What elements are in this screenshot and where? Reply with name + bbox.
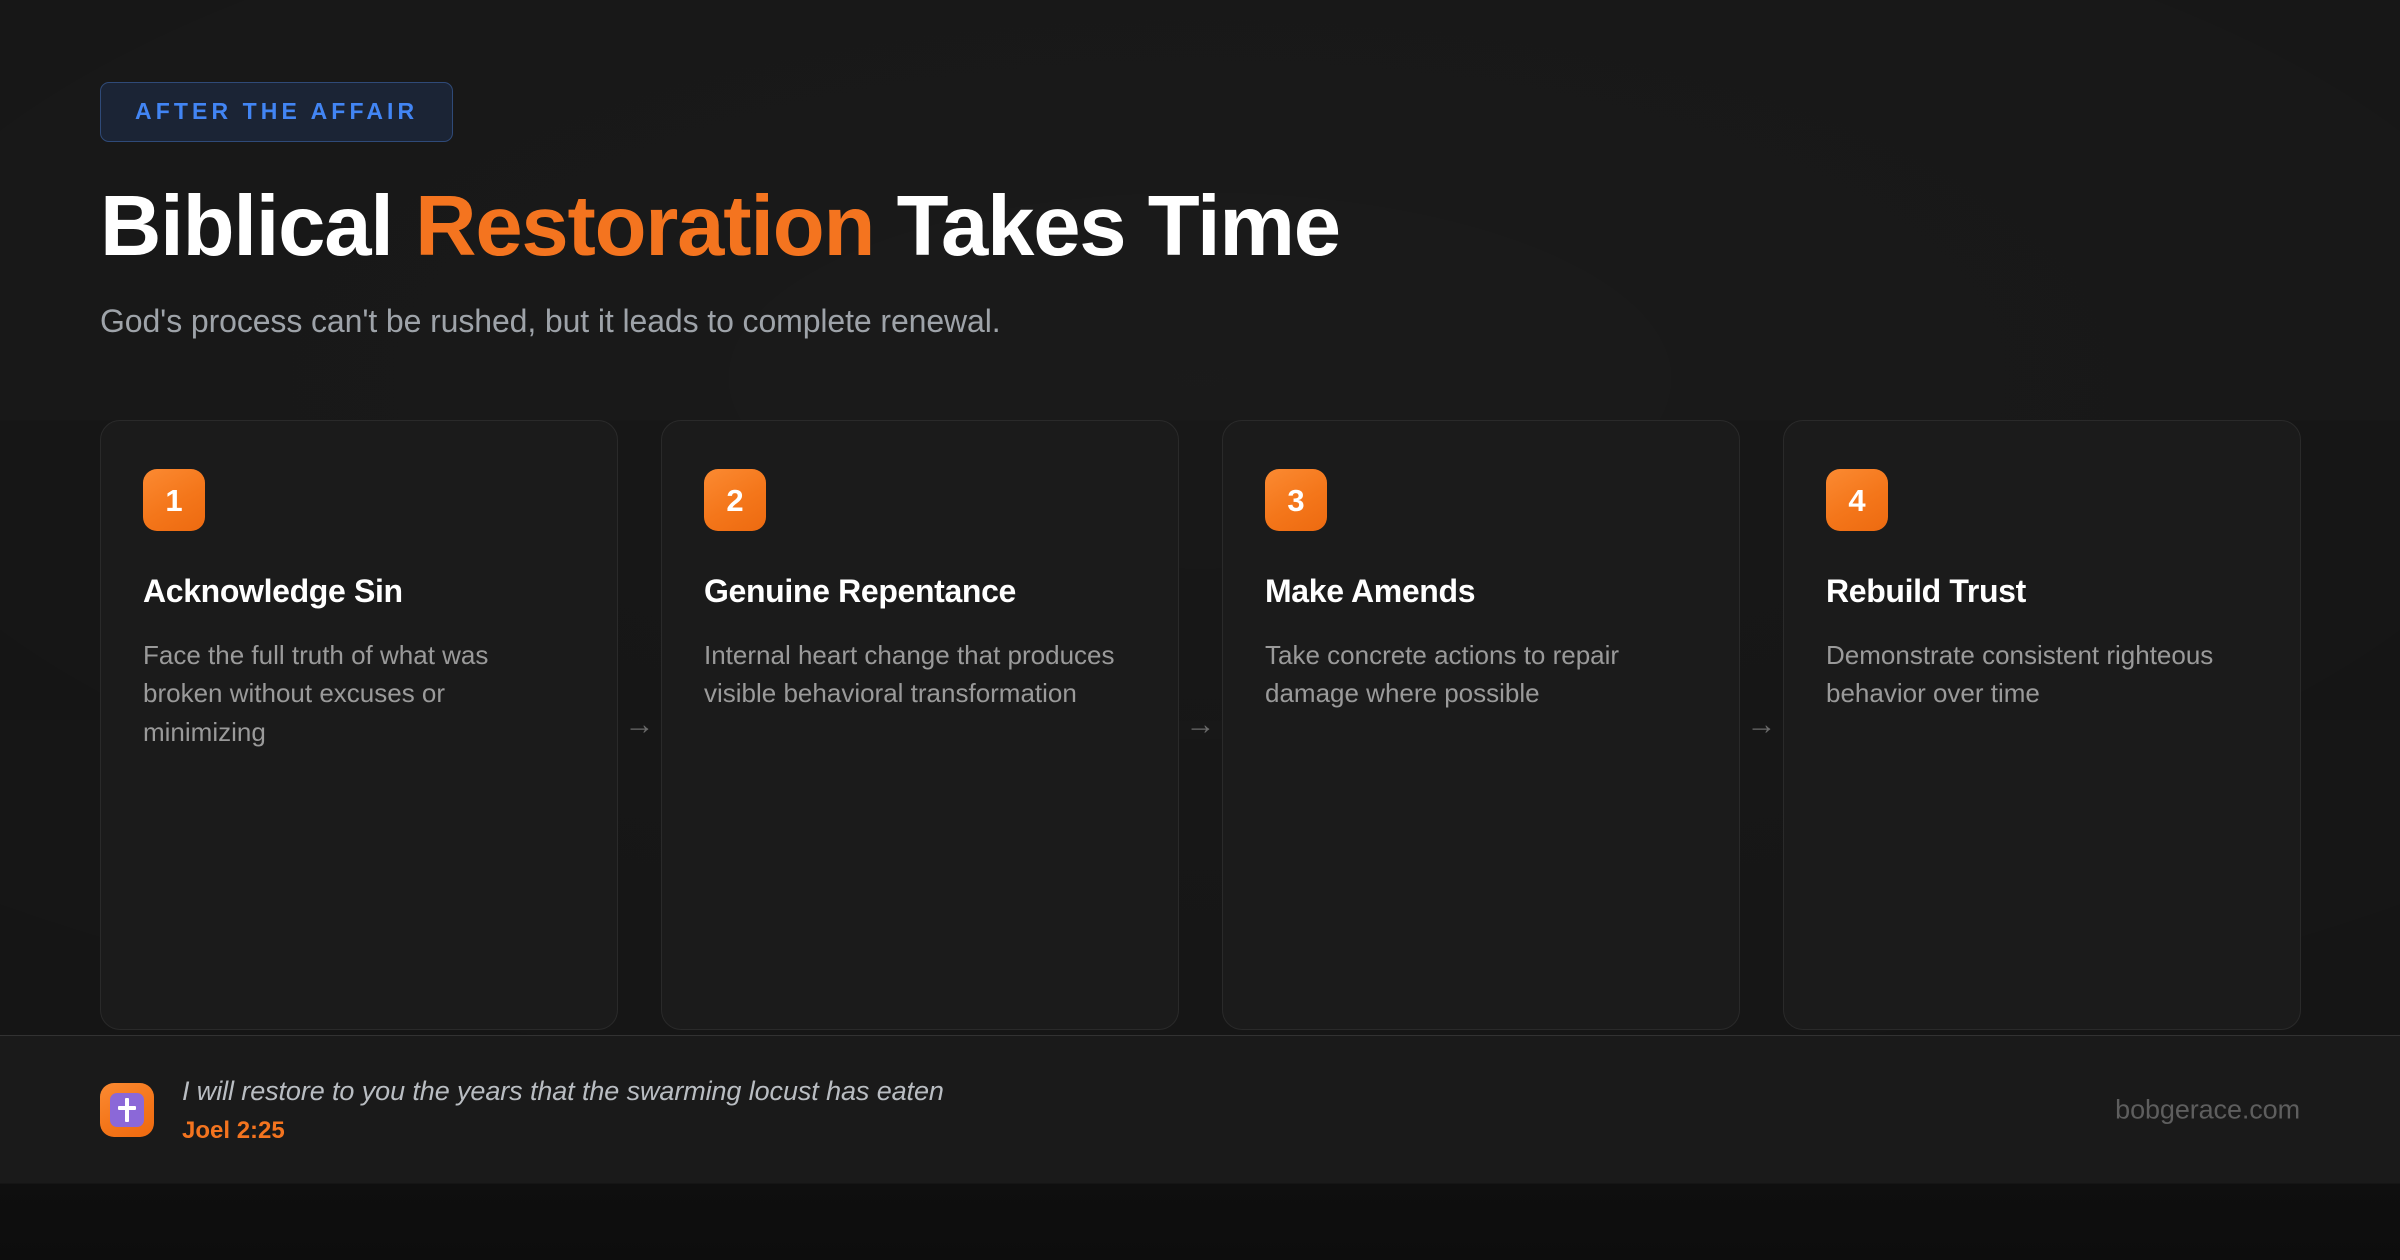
scripture-quote: I will restore to you the years that the… [182,1075,944,1107]
cross-icon [100,1083,154,1137]
step-card[interactable]: 4 Rebuild Trust Demonstrate consistent r… [1783,420,2301,1030]
step-description: Demonstrate consistent righteous behavio… [1826,636,2258,713]
scripture-reference: Joel 2:25 [182,1118,944,1144]
title-accent: Restoration [415,179,874,274]
footer: I will restore to you the years that the… [0,1035,2400,1183]
arrow-right-icon: → [1179,420,1222,1030]
step-card[interactable]: 3 Make Amends Take concrete actions to r… [1222,420,1740,1030]
step-description: Face the full truth of what was broken w… [143,636,575,751]
step-card-row: 1 Acknowledge Sin Face the full truth of… [100,420,2300,1030]
step-number-badge: 3 [1265,469,1327,531]
step-title: Make Amends [1265,573,1697,610]
footer-quote-group: I will restore to you the years that the… [100,1075,944,1144]
slide-root: AFTER THE AFFAIR Biblical Restoration Ta… [0,0,2400,1260]
step-number-badge: 1 [143,469,205,531]
page-title: Biblical Restoration Takes Time [100,184,1340,271]
arrow-right-icon: → [618,420,661,1030]
arrow-right-icon: → [1740,420,1783,1030]
step-title: Rebuild Trust [1826,573,2258,610]
step-title: Genuine Repentance [704,573,1136,610]
step-description: Take concrete actions to repair damage w… [1265,636,1697,713]
header: AFTER THE AFFAIR Biblical Restoration Ta… [100,82,1340,340]
eyebrow-badge: AFTER THE AFFAIR [100,82,453,142]
step-card[interactable]: 2 Genuine Repentance Internal heart chan… [661,420,1179,1030]
step-number-badge: 2 [704,469,766,531]
step-number-badge: 4 [1826,469,1888,531]
step-card[interactable]: 1 Acknowledge Sin Face the full truth of… [100,420,618,1030]
cross-glyph [110,1093,144,1127]
step-title: Acknowledge Sin [143,573,575,610]
site-url: bobgerace.com [2115,1094,2300,1125]
quote-block: I will restore to you the years that the… [182,1075,944,1144]
title-part-2: Takes Time [874,179,1340,274]
step-description: Internal heart change that produces visi… [704,636,1136,713]
page-subtitle: God's process can't be rushed, but it le… [100,303,1340,340]
title-part-1: Biblical [100,179,415,274]
